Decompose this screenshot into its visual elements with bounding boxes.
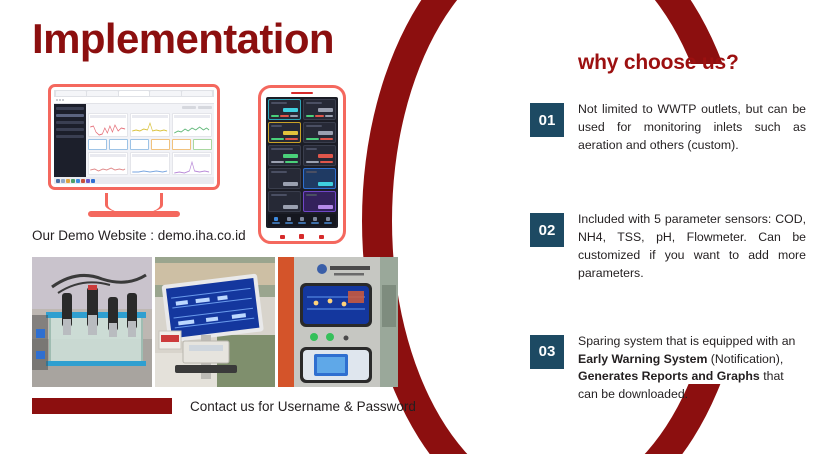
phone-back-button[interactable] (319, 235, 324, 239)
nav-item-alerts[interactable] (311, 217, 319, 224)
phone-card-2 (303, 99, 336, 120)
phone-bottom-nav[interactable] (268, 214, 336, 226)
why-choose-us-heading: why choose us? (578, 51, 739, 75)
phone-card-4 (303, 122, 336, 143)
phone-card-10 (303, 191, 336, 212)
demo-website-label: Our Demo Website : demo.iha.co.id (32, 228, 246, 243)
monitor-stand-base (88, 211, 180, 217)
chart-card-flow (130, 152, 170, 176)
chart-card-ph (88, 152, 128, 176)
redacted-credentials-block (32, 398, 172, 414)
slide-canvas: Implementation (0, 0, 823, 454)
benefit-number-badge: 02 (530, 213, 564, 247)
phone-recents-button[interactable] (280, 235, 285, 239)
monitor-screen (54, 90, 214, 184)
benefit-text: Included with 5 parameter sensors: COD, … (578, 211, 806, 282)
phone-card-7 (268, 168, 301, 189)
phone-hardware-buttons[interactable] (261, 234, 343, 239)
chart-card-extra (172, 152, 212, 176)
phone-card-6 (303, 145, 336, 166)
photo-sensor-tank (32, 257, 152, 387)
benefit-text: Not limited to WWTP outlets, but can be … (578, 101, 806, 154)
nav-item-graphs[interactable] (298, 217, 306, 224)
phone-card-3 (268, 122, 301, 143)
photo-strip (32, 257, 398, 387)
benefit-item-3: 03 Sparing system that is equipped with … (530, 335, 806, 404)
phone-home-button[interactable] (299, 234, 304, 239)
benefit-item-1: 01 Not limited to WWTP outlets, but can … (530, 103, 806, 154)
browser-tab-strip (54, 90, 214, 97)
photo-touchscreen-kiosk (155, 257, 275, 387)
phone-card-5 (268, 145, 301, 166)
benefit-text: Sparing system that is equipped with an … (578, 333, 806, 404)
browser-address-bar (54, 97, 214, 104)
chart-card-tss (172, 113, 212, 137)
phone-card-9 (268, 191, 301, 212)
monitor-stand-neck (105, 193, 163, 213)
dashboard-content (86, 104, 214, 177)
nav-item-dashboard[interactable] (272, 217, 280, 224)
benefit-item-2: 02 Included with 5 parameter sensors: CO… (530, 213, 806, 282)
chart-card-nh4 (130, 113, 170, 137)
taskbar (54, 177, 214, 184)
phone-speaker (291, 92, 313, 94)
phone-card-8 (303, 168, 336, 189)
contact-label: Contact us for Username & Password (190, 399, 416, 414)
phone-card-1 (268, 99, 301, 120)
monitor-frame (48, 84, 220, 190)
nav-item-profile[interactable] (324, 217, 332, 224)
benefit-number-badge: 03 (530, 335, 564, 369)
nav-item-reports[interactable] (285, 217, 293, 224)
phone-screen (266, 97, 338, 228)
benefit-number-badge: 01 (530, 103, 564, 137)
benefits-list: 01 Not limited to WWTP outlets, but can … (530, 103, 806, 404)
page-title: Implementation (32, 16, 334, 62)
phone-frame (258, 85, 346, 244)
chart-card-cod (88, 113, 128, 137)
photo-control-cabinet (278, 257, 398, 387)
dashboard-sidebar (54, 104, 86, 177)
